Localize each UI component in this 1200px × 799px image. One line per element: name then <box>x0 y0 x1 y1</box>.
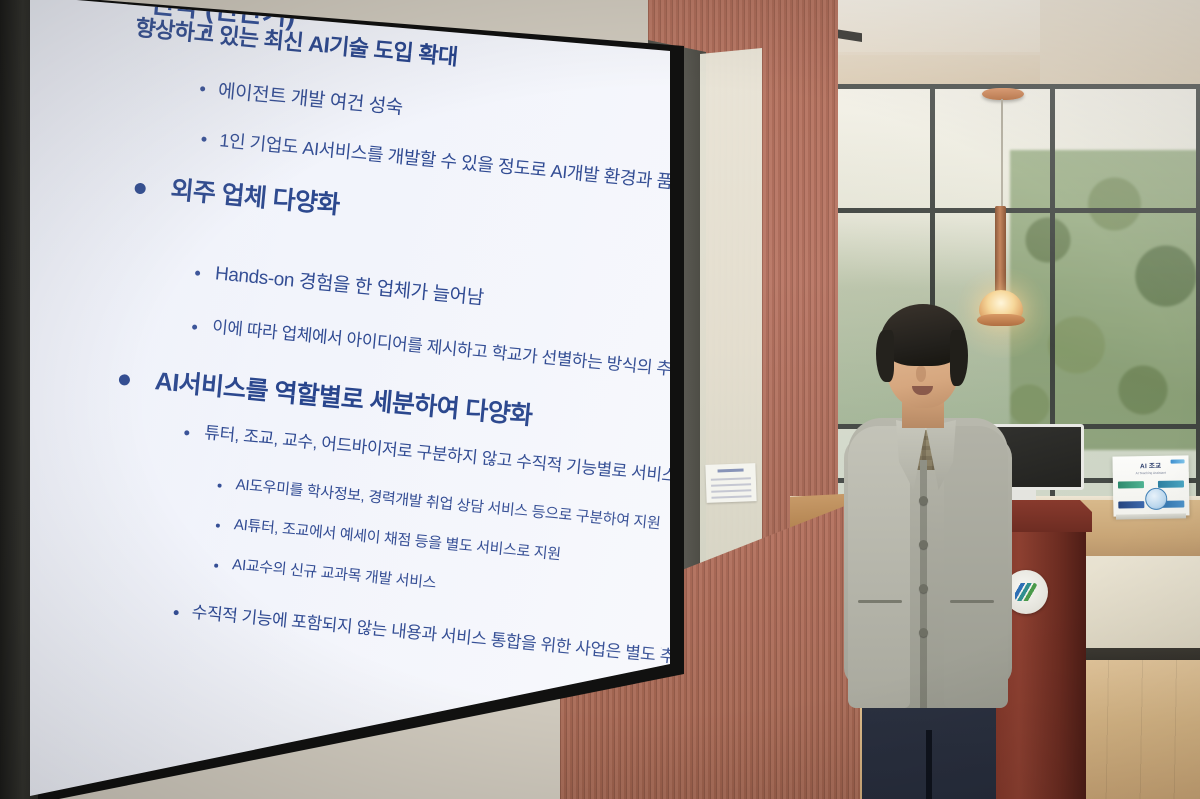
presenter-jacket-left-panel <box>848 426 910 708</box>
jacket-button <box>919 584 928 593</box>
bullet-dot-level2 <box>192 324 197 329</box>
sign-diagram <box>1118 478 1185 513</box>
jacket-button <box>919 628 928 637</box>
slide-bullet-11: AI교수의 신규 교과목 개발 서비스 <box>231 553 437 593</box>
slide-content: 전략 (전반기) 향상하고 있는 최신 AI기술 도입 확대 에이전트 개발 여… <box>30 0 678 799</box>
sign-accent-bar <box>1171 459 1185 463</box>
bullet-dot-level3 <box>214 563 218 567</box>
slide-page-marker: · <box>659 645 662 652</box>
projection-screen-area: 전략 (전반기) 향상하고 있는 최신 AI기술 도입 확대 에이전트 개발 여… <box>0 0 700 799</box>
projected-slide: 전략 (전반기) 향상하고 있는 최신 AI기술 도입 확대 에이전트 개발 여… <box>30 0 678 799</box>
bullet-dot-level2 <box>195 270 200 275</box>
trees-outside <box>1010 150 1200 450</box>
sign-box-service <box>1118 481 1144 488</box>
slide-bullet-5: Hands-on 경험을 한 업체가 늘어남 <box>214 258 485 310</box>
jacket-button <box>919 496 928 505</box>
bullet-dot-level3 <box>217 483 221 487</box>
presenter-nose <box>916 366 926 382</box>
posted-notice <box>705 463 756 503</box>
presenter-hair-side-left <box>876 330 894 382</box>
slide-bullet-4: 외주 업체 다양화 <box>169 170 341 222</box>
pendant-lamp-cord <box>1001 99 1003 209</box>
sign-box-support <box>1158 480 1184 487</box>
presenter-hair-side-right <box>950 330 968 386</box>
pendant-lamp-ceiling-mount <box>982 88 1024 100</box>
bullet-dot-level2 <box>173 610 178 615</box>
jacket-button <box>919 540 928 549</box>
bullet-dot-level2 <box>200 86 205 91</box>
window-mullion-horizontal <box>818 208 1200 213</box>
jacket-pocket-left <box>858 600 902 603</box>
slide-bullet-10: AI튜터, 조교에서 예세이 채점 등을 별도 서비스로 지원 <box>233 513 562 564</box>
pendant-lamp-stem <box>995 206 1006 296</box>
bullet-dot-level1 <box>118 374 130 386</box>
sign-subtitle: AI Teaching Assistant <box>1118 470 1184 475</box>
presenter-jacket-right-panel <box>944 426 1008 708</box>
bullet-dot-level2 <box>201 136 206 141</box>
bullet-dot-level3 <box>216 523 220 527</box>
presenter-person <box>840 300 1020 799</box>
jacket-pocket-right <box>950 600 994 603</box>
ceiling-right-panel <box>1040 0 1200 96</box>
slide-bullet-2: 에이전트 개발 여건 성숙 <box>217 76 404 120</box>
sign-box-tutor <box>1118 501 1144 508</box>
presentation-photo: AI 조교 AI Teaching Assistant <box>0 0 1200 799</box>
slide-bullet-12: 수직적 기능에 포함되지 않는 내용과 서비스 통합을 위한 사업은 별도 추진 <box>191 598 678 669</box>
bullet-dot-level1 <box>134 183 146 195</box>
ai-assistant-tabletop-sign: AI 조교 AI Teaching Assistant <box>1112 455 1189 516</box>
bullet-dot-level2 <box>184 430 189 435</box>
presenter-leg-seam <box>926 730 932 799</box>
